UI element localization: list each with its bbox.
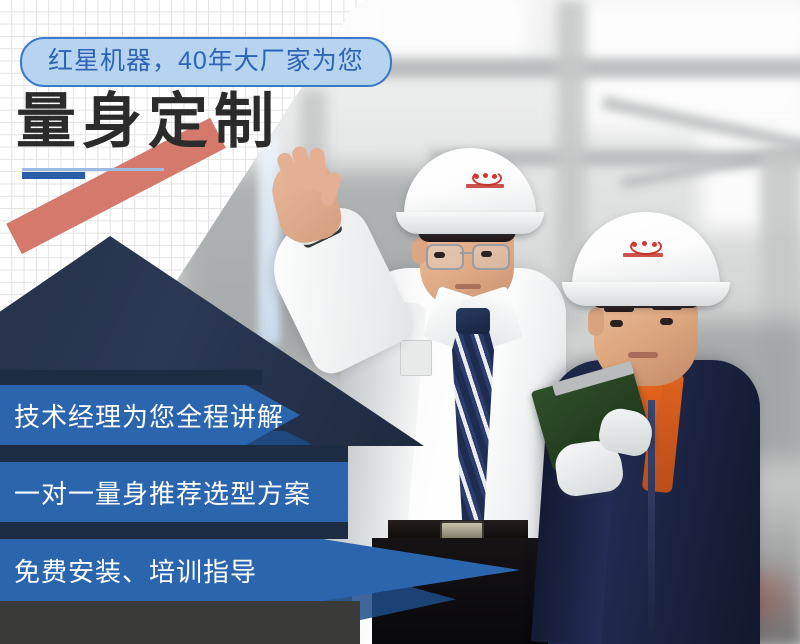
engineer-glasses-left-lens — [426, 244, 464, 270]
worker-ear — [588, 308, 604, 336]
brand-badge: 红星机器，40年大厂家为您 — [20, 37, 392, 87]
photo-light-tube — [258, 134, 280, 344]
worker-helmet-logo — [620, 238, 666, 258]
engineer-brow-right — [474, 234, 502, 239]
worker-mouth — [628, 352, 658, 358]
feature-band-3-label: 免费安装、培训指导 — [0, 552, 257, 589]
engineer-mouth — [455, 284, 481, 289]
feature-band-2-label: 一对一量身推荐选型方案 — [0, 474, 311, 511]
band-gap-2 — [0, 522, 348, 539]
worker-eye-left — [610, 320, 623, 327]
engineer-helmet-logo — [464, 170, 506, 188]
band-gap-1 — [0, 445, 348, 462]
band-gap-bottom — [0, 601, 360, 644]
engineer-glasses-right-lens — [472, 244, 510, 270]
engineer-hard-hat-brim — [396, 212, 544, 234]
headline-rule-thin — [22, 168, 164, 171]
worker-hard-hat-brim — [562, 282, 730, 306]
headline-rule-thick — [22, 172, 85, 179]
feature-band-1: 技术经理为您全程讲解 — [0, 385, 300, 445]
headline: 量身定制 — [16, 92, 280, 152]
engineer-tie-knot — [456, 308, 490, 334]
worker-eye-right — [660, 318, 673, 325]
engineer-brow-left — [428, 236, 456, 241]
photo-beam-top — [380, 58, 800, 78]
engineer-glasses-bridge — [460, 252, 472, 254]
engineer-chest-badge — [400, 340, 432, 376]
promo-banner: 红星机器，40年大厂家为您 量身定制 技术经理为您全程讲解 一对一量身推荐选型方… — [0, 0, 800, 644]
feature-band-2: 一对一量身推荐选型方案 — [0, 462, 348, 522]
engineer-eye-left — [434, 252, 445, 258]
worker-brow-left — [604, 306, 634, 312]
engineer-eye-right — [481, 251, 492, 257]
band-gap-top — [0, 370, 262, 385]
feature-band-1-label: 技术经理为您全程讲解 — [0, 397, 284, 434]
